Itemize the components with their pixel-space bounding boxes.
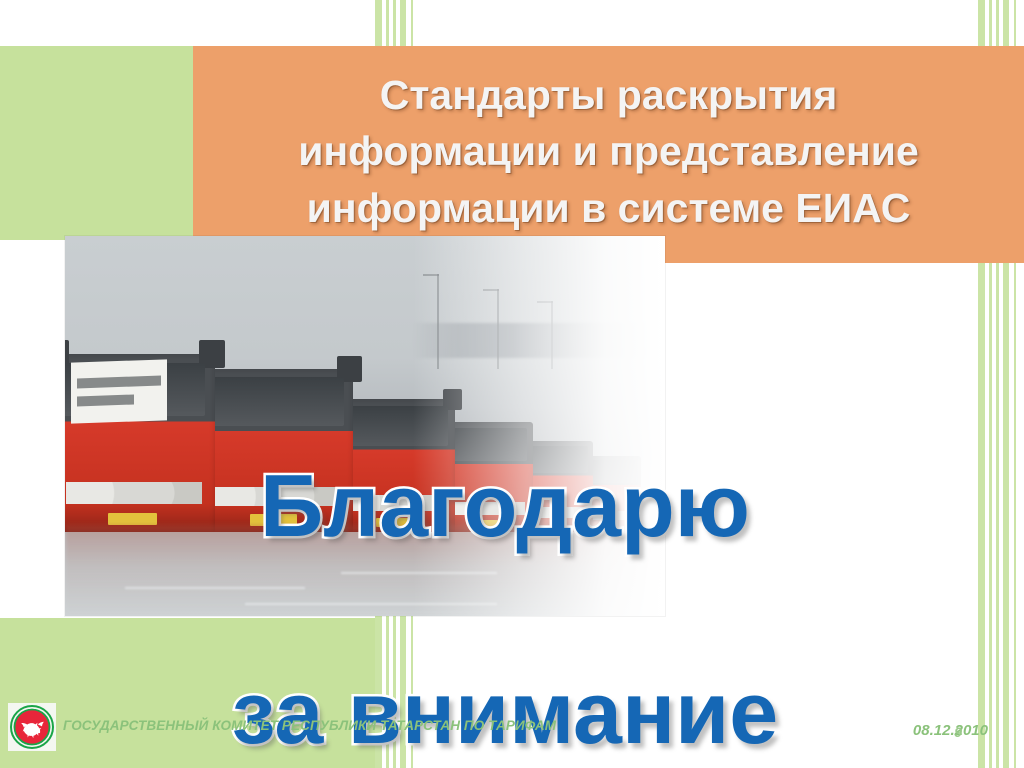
page-title: Стандарты раскрытия информации и предста…: [215, 67, 1002, 237]
footer-date: 08.12.2010: [913, 722, 988, 739]
bus-fleet-photo: [65, 236, 665, 616]
photo-fade-overlay: [65, 236, 665, 616]
presentation-slide: Стандарты раскрытия информации и предста…: [0, 0, 1024, 768]
green-panel-bottom-left: [0, 618, 375, 768]
white-strip-top: [0, 0, 1024, 46]
slide-title-box: Стандарты раскрытия информации и предста…: [193, 46, 1024, 263]
slide-number: 9: [954, 724, 962, 740]
footer-organization-label: ГОСУДАРСТВЕННЫЙ КОМИТЕТ РЕСПУБЛИКИ ТАТАР…: [63, 718, 556, 733]
coat-of-arms-icon: [10, 705, 54, 749]
tatarstan-coat-of-arms-logo: [8, 703, 56, 751]
